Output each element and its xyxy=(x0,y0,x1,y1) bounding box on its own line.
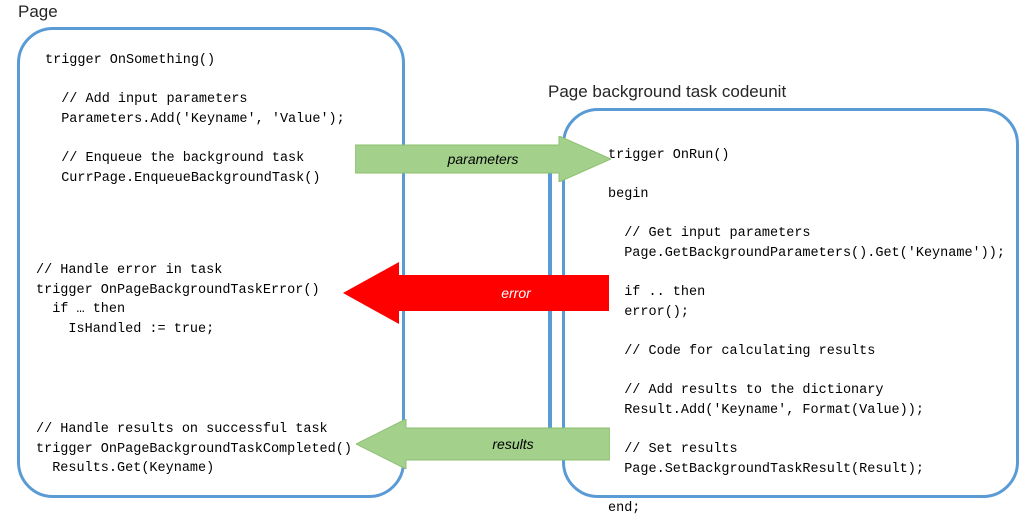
arrow-parameters: parameters xyxy=(355,136,611,182)
arrow-error-shape xyxy=(343,262,609,324)
codeunit-code-trigger-onrun: trigger OnRun() begin // Get input param… xyxy=(608,146,1005,518)
arrow-error: error xyxy=(343,262,609,324)
arrow-results: results xyxy=(356,419,610,469)
page-code-trigger-onpagebackgroundtaskcompleted: // Handle results on successful task tri… xyxy=(36,420,352,479)
page-code-trigger-onsomething: trigger OnSomething() // Add input param… xyxy=(45,51,345,188)
page-code-trigger-onpagebackgroundtaskerror: // Handle error in task trigger OnPageBa… xyxy=(36,261,320,339)
page-panel-title: Page xyxy=(18,2,58,22)
codeunit-panel-title: Page background task codeunit xyxy=(548,82,786,102)
diagram-canvas: Page Page background task codeunit trigg… xyxy=(0,0,1036,514)
arrow-parameters-shape xyxy=(355,136,611,182)
arrow-results-shape xyxy=(356,419,610,469)
